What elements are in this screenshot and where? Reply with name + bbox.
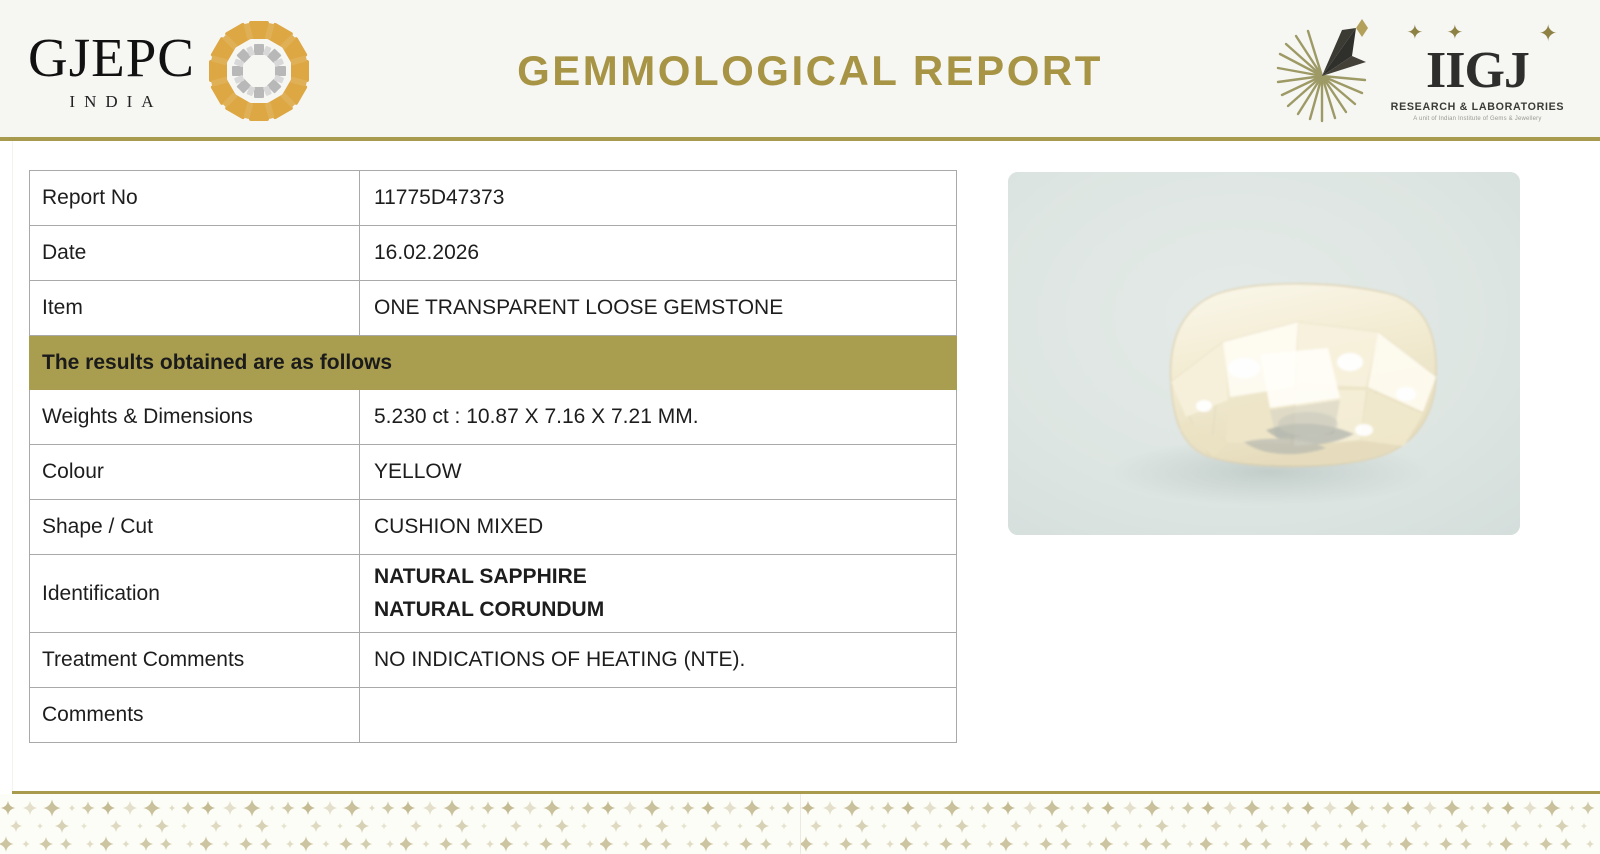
- gemstone-image: [1008, 172, 1520, 535]
- table-row: Comments: [30, 688, 957, 743]
- results-banner-row: The results obtained are as follows: [30, 336, 957, 390]
- iigj-caption-text: RESEARCH & LABORATORIES: [1391, 101, 1565, 113]
- row-value-date: 16.02.2026: [360, 226, 957, 281]
- row-value-identification: NATURAL SAPPHIRE NATURAL CORUNDUM: [360, 555, 957, 633]
- table-row: Report No 11775D47373: [30, 171, 957, 226]
- starburst-icon: [1272, 14, 1384, 126]
- gjepc-wordmark: GJEPC INDIA: [22, 30, 195, 112]
- row-label-treatment-comments: Treatment Comments: [30, 633, 360, 688]
- iigj-wordmark-text: IIGJ: [1426, 45, 1529, 97]
- table-row: Item ONE TRANSPARENT LOOSE GEMSTONE: [30, 281, 957, 336]
- row-value-colour: YELLOW: [360, 445, 957, 500]
- iigj-mark: ✦ ✦ ✦ IIGJ RESEARCH & LABORATORIES A uni…: [1388, 19, 1567, 122]
- page-title: GEMMOLOGICAL REPORT: [430, 0, 1190, 141]
- gjepc-logo: GJEPC INDIA: [22, 8, 372, 133]
- iigj-logo: ✦ ✦ ✦ IIGJ RESEARCH & LABORATORIES A uni…: [1272, 6, 1582, 134]
- identification-line-1: NATURAL SAPPHIRE: [374, 561, 956, 594]
- row-label-report-no: Report No: [30, 171, 360, 226]
- table-row: Treatment Comments NO INDICATIONS OF HEA…: [30, 633, 957, 688]
- row-label-comments: Comments: [30, 688, 360, 743]
- row-value-report-no: 11775D47373: [360, 171, 957, 226]
- star-icon: ✦: [1446, 23, 1463, 43]
- row-label-date: Date: [30, 226, 360, 281]
- radial-sunburst-icon: [203, 15, 315, 127]
- table-row: Date 16.02.2026: [30, 226, 957, 281]
- results-banner-text: The results obtained are as follows: [30, 336, 957, 390]
- iigj-fineprint-text: A unit of Indian Institute of Gems & Jew…: [1413, 116, 1541, 122]
- report-details-table: Report No 11775D47373 Date 16.02.2026 It…: [29, 170, 957, 743]
- security-strip-seam: [800, 794, 801, 854]
- row-label-weights-dimensions: Weights & Dimensions: [30, 390, 360, 445]
- page-margin-line: [12, 141, 13, 791]
- report-header: GJEPC INDIA: [0, 0, 1600, 141]
- row-value-item: ONE TRANSPARENT LOOSE GEMSTONE: [360, 281, 957, 336]
- identification-line-2: NATURAL CORUNDUM: [374, 594, 956, 627]
- row-value-treatment-comments: NO INDICATIONS OF HEATING (NTE).: [360, 633, 957, 688]
- gjepc-subtitle-text: INDIA: [60, 92, 162, 112]
- row-value-shape-cut: CUSHION MIXED: [360, 500, 957, 555]
- table-row: Colour YELLOW: [30, 445, 957, 500]
- iigj-star-row: ✦ ✦ ✦: [1388, 23, 1566, 45]
- row-label-shape-cut: Shape / Cut: [30, 500, 360, 555]
- row-label-item: Item: [30, 281, 360, 336]
- table-row: Shape / Cut CUSHION MIXED: [30, 500, 957, 555]
- row-label-colour: Colour: [30, 445, 360, 500]
- gjepc-wordmark-text: GJEPC: [28, 30, 195, 85]
- row-value-weights-dimensions: 5.230 ct : 10.87 X 7.16 X 7.21 MM.: [360, 390, 957, 445]
- star-icon: ✦: [1406, 23, 1423, 43]
- row-label-identification: Identification: [30, 555, 360, 633]
- star-icon: ✦: [1538, 22, 1557, 45]
- row-value-comments: [360, 688, 957, 743]
- table-row: Weights & Dimensions 5.230 ct : 10.87 X …: [30, 390, 957, 445]
- report-page: GJEPC INDIA: [0, 0, 1600, 854]
- gemstone-photograph: [1008, 172, 1520, 535]
- table-row: Identification NATURAL SAPPHIRE NATURAL …: [30, 555, 957, 633]
